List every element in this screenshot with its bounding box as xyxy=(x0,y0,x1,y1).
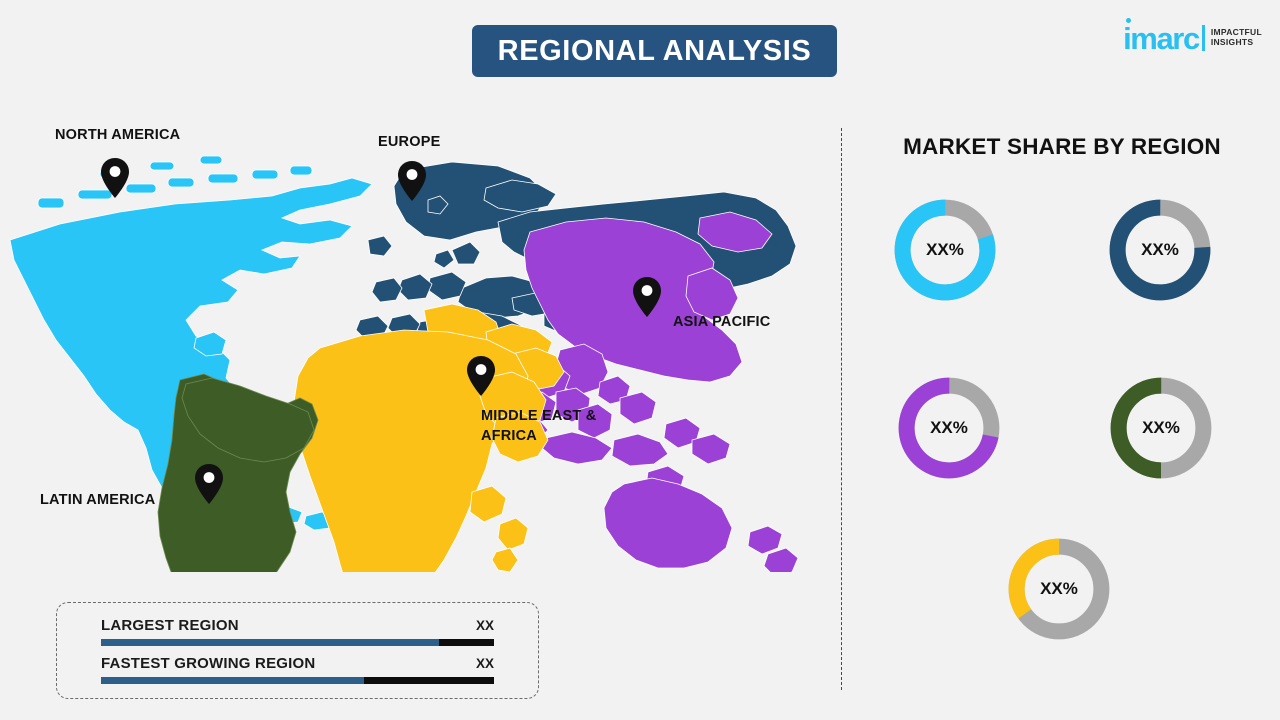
legend-value-largest-region: XX xyxy=(476,618,494,633)
map-label-asia-pacific: ASIA PACIFIC xyxy=(673,313,770,333)
logo-tagline-line2: INSIGHTS xyxy=(1211,38,1262,48)
map-pin-north-america[interactable] xyxy=(100,158,130,198)
map-region-latin-america xyxy=(158,374,318,572)
donut-label-latin-america: XX% xyxy=(1105,372,1217,484)
donut-latin-america: XX% xyxy=(1105,372,1217,484)
logo-wordmark: imarc xyxy=(1123,23,1199,54)
map-pin-latin-america[interactable] xyxy=(194,464,224,504)
map-pin-asia-pacific[interactable] xyxy=(632,277,662,317)
map-label-latin-america: LATIN AMERICA xyxy=(40,491,155,511)
infographic-root: REGIONAL ANALYSIS imarc IMPACTFUL INSIGH… xyxy=(0,0,1280,720)
logo-dot-icon xyxy=(1126,18,1131,23)
map-pin-europe[interactable] xyxy=(397,161,427,201)
legend-bar-fill-largest-region xyxy=(101,639,439,646)
section-divider xyxy=(841,128,842,690)
logo-wordmark-text: imarc xyxy=(1123,21,1199,56)
legend-box: LARGEST REGION XX FASTEST GROWING REGION… xyxy=(56,602,539,699)
donut-asia-pacific: XX% xyxy=(893,372,1005,484)
map-pin-middle-east-africa[interactable] xyxy=(466,356,496,396)
donut-europe: XX% xyxy=(1104,194,1216,306)
legend-row-fastest-growing-region: FASTEST GROWING REGION XX xyxy=(101,655,494,684)
imarc-logo: imarc IMPACTFUL INSIGHTS xyxy=(1123,20,1262,56)
map-label-north-america: NORTH AMERICA xyxy=(55,126,180,146)
donut-label-europe: XX% xyxy=(1104,194,1216,306)
map-label-europe: EUROPE xyxy=(378,133,440,153)
legend-bar-fill-fastest-growing-region xyxy=(101,677,364,684)
legend-label-fastest-growing-region: FASTEST GROWING REGION xyxy=(101,655,315,672)
map-label-middle-east-africa: MIDDLE EAST & AFRICA xyxy=(481,407,596,446)
legend-label-largest-region: LARGEST REGION xyxy=(101,617,239,634)
market-share-title: MARKET SHARE BY REGION xyxy=(886,134,1238,160)
logo-tagline: IMPACTFUL INSIGHTS xyxy=(1211,28,1262,48)
legend-value-fastest-growing-region: XX xyxy=(476,656,494,671)
page-title: REGIONAL ANALYSIS xyxy=(498,35,812,68)
donut-label-middle-east-africa: XX% xyxy=(1003,533,1115,645)
legend-row-largest-region: LARGEST REGION XX xyxy=(101,617,494,646)
donut-label-asia-pacific: XX% xyxy=(893,372,1005,484)
page-title-banner: REGIONAL ANALYSIS xyxy=(472,25,837,77)
donut-label-north-america: XX% xyxy=(889,194,1001,306)
donut-middle-east-africa: XX% xyxy=(1003,533,1115,645)
legend-bar-fastest-growing-region xyxy=(101,677,494,684)
logo-divider-bar xyxy=(1202,25,1205,51)
donut-north-america: XX% xyxy=(889,194,1001,306)
legend-bar-largest-region xyxy=(101,639,494,646)
